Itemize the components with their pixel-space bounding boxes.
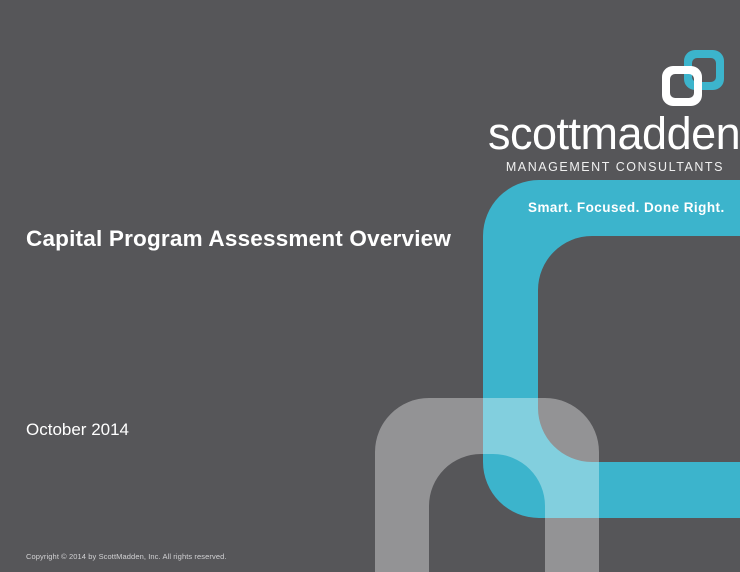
teal-ring-shape (483, 180, 740, 518)
slide-date: October 2014 (26, 420, 129, 440)
scottmadden-logo: scottmadden MANAGEMENT CONSULTANTS (488, 50, 724, 174)
copyright-notice: Copyright © 2014 by ScottMadden, Inc. Al… (26, 552, 227, 561)
interlocking-rounded-squares-icon (662, 50, 724, 106)
brand-tagline: Smart. Focused. Done Right. (528, 200, 725, 215)
logo-wordmark: scottmadden (488, 112, 724, 156)
title-slide: Smart. Focused. Done Right. scottmadden … (0, 0, 740, 572)
page-title: Capital Program Assessment Overview (26, 226, 451, 252)
gray-ring-shape (375, 398, 599, 572)
logo-descriptor: MANAGEMENT CONSULTANTS (488, 160, 724, 174)
